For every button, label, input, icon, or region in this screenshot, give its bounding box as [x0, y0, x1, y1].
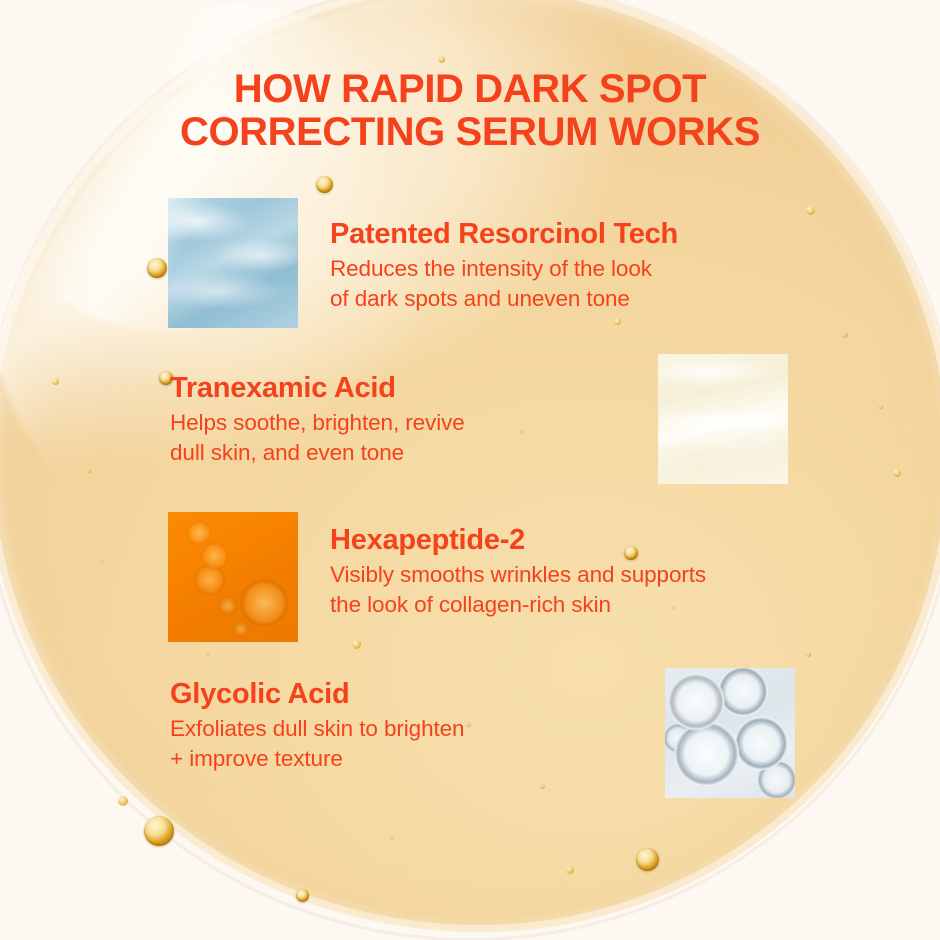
blue-gel-texture-swatch: [168, 198, 298, 328]
ingredient-description: Reduces the intensity of the look of dar…: [330, 254, 678, 313]
white-bubbles-texture-swatch: [665, 668, 795, 798]
ingredient-description-line-2: + improve texture: [170, 744, 464, 773]
ingredient-description: Visibly smooths wrinkles and supports th…: [330, 560, 706, 619]
orange-serum-bubbles-swatch: [168, 512, 298, 642]
page-title-line-2: CORRECTING SERUM WORKS: [0, 111, 940, 154]
ingredient-heading: Patented Resorcinol Tech: [330, 218, 678, 250]
page-title-line-1: HOW RAPID DARK SPOT: [0, 68, 940, 111]
ingredient-description-line-2: of dark spots and uneven tone: [330, 284, 678, 313]
ingredient-text-glycolic-acid: Glycolic Acid Exfoliates dull skin to br…: [170, 678, 464, 773]
ingredient-heading: Hexapeptide-2: [330, 524, 706, 556]
ingredient-description-line-1: Reduces the intensity of the look: [330, 254, 678, 283]
ingredient-heading: Glycolic Acid: [170, 678, 464, 710]
ingredient-text-patented-resorcinol-tech: Patented Resorcinol Tech Reduces the int…: [330, 218, 678, 313]
ingredient-description-line-2: dull skin, and even tone: [170, 438, 465, 467]
ingredient-description: Exfoliates dull skin to brighten + impro…: [170, 714, 464, 773]
ingredient-text-tranexamic-acid: Tranexamic Acid Helps soothe, brighten, …: [170, 372, 465, 467]
ingredient-description-line-1: Exfoliates dull skin to brighten: [170, 714, 464, 743]
ingredient-description-line-1: Visibly smooths wrinkles and supports: [330, 560, 706, 589]
cream-texture-swatch: [658, 354, 788, 484]
ingredient-text-hexapeptide-2: Hexapeptide-2 Visibly smooths wrinkles a…: [330, 524, 706, 619]
ingredient-heading: Tranexamic Acid: [170, 372, 465, 404]
infographic-canvas: HOW RAPID DARK SPOT CORRECTING SERUM WOR…: [0, 0, 940, 940]
ingredient-description-line-1: Helps soothe, brighten, revive: [170, 408, 465, 437]
ingredient-description: Helps soothe, brighten, revive dull skin…: [170, 408, 465, 467]
ingredient-description-line-2: the look of collagen-rich skin: [330, 590, 706, 619]
page-title: HOW RAPID DARK SPOT CORRECTING SERUM WOR…: [0, 68, 940, 154]
